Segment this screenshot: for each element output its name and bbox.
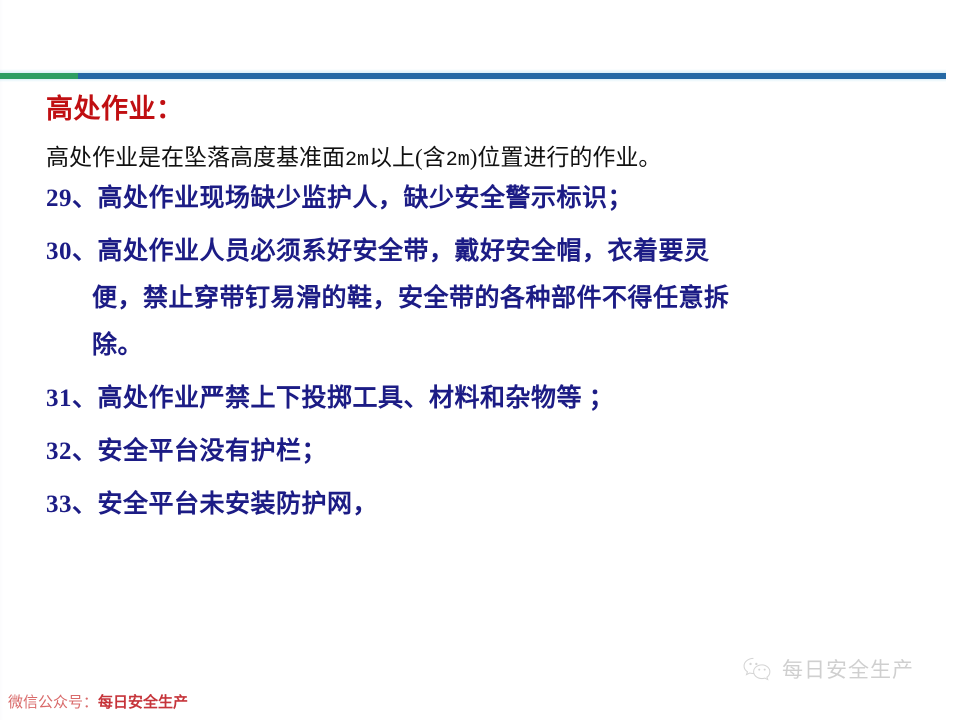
list-item: 32、安全平台没有护栏；	[46, 439, 936, 464]
header-divider	[0, 73, 946, 79]
list-item-line: 30、高处作业人员必须系好安全带，戴好安全帽，衣着要灵	[46, 239, 936, 264]
slide-canvas: 高处作业： 高处作业是在坠落高度基准面2m以上(含2m)位置进行的作业。 29、…	[0, 0, 960, 720]
credit-label: 微信公众号：	[8, 694, 98, 711]
slide-content: 高处作业： 高处作业是在坠落高度基准面2m以上(含2m)位置进行的作业。 29、…	[46, 96, 936, 545]
list-item: 31、高处作业严禁上下投掷工具、材料和杂物等 ；	[46, 386, 936, 411]
list-item-line: 32、安全平台没有护栏；	[46, 439, 936, 464]
list-item-line: 33、安全平台未安装防护网，	[46, 492, 936, 517]
watermark-label: 每日安全生产	[782, 654, 914, 684]
list-item-line: 除。	[46, 333, 936, 358]
definition-prefix: 高处作业是在坠落高度基准面	[46, 145, 345, 170]
credit-account-name: 每日安全生产	[98, 694, 188, 711]
list-item-line: 29、高处作业现场缺少监护人，缺少安全警示标识；	[46, 186, 936, 211]
list-item: 30、高处作业人员必须系好安全带，戴好安全帽，衣着要灵 便，禁止穿带钉易滑的鞋，…	[46, 239, 936, 358]
hazard-item-list: 29、高处作业现场缺少监护人，缺少安全警示标识； 30、高处作业人员必须系好安全…	[46, 186, 936, 517]
definition-suffix: )位置进行的作业。	[470, 145, 662, 170]
list-item: 29、高处作业现场缺少监护人，缺少安全警示标识；	[46, 186, 936, 211]
definition-unit-secondary: 2m	[446, 149, 470, 172]
wechat-icon	[742, 656, 772, 682]
list-item-line: 便，禁止穿带钉易滑的鞋，安全带的各种部件不得任意拆	[46, 286, 936, 311]
section-title: 高处作业：	[46, 96, 936, 123]
definition-middle: 以上(含	[369, 145, 446, 170]
watermark: 每日安全生产	[742, 654, 914, 684]
credit-line: 微信公众号：每日安全生产	[8, 695, 188, 710]
header-divider-glow-bottom	[0, 79, 946, 82]
list-item: 33、安全平台未安装防护网，	[46, 492, 936, 517]
list-item-line: 31、高处作业严禁上下投掷工具、材料和杂物等 ；	[46, 386, 936, 411]
definition-unit-primary: 2m	[345, 149, 369, 172]
definition-text: 高处作业是在坠落高度基准面2m以上(含2m)位置进行的作业。	[46, 145, 936, 172]
